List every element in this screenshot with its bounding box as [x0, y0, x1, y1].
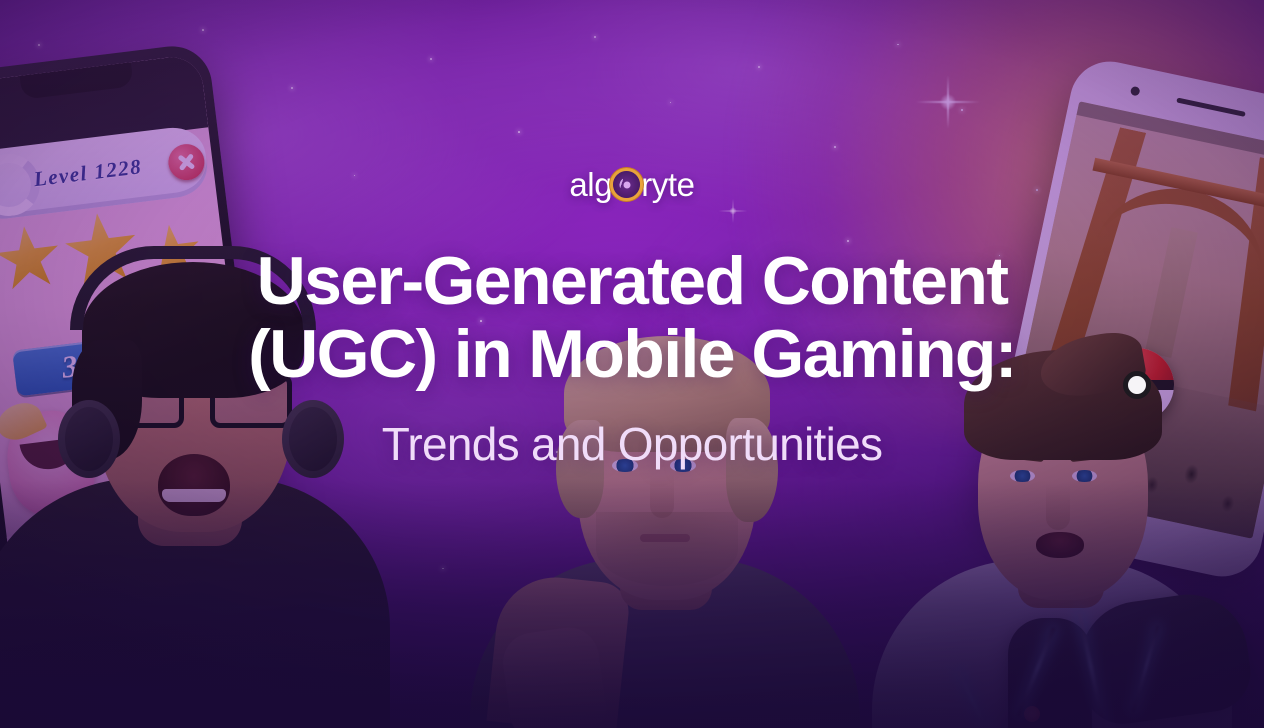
logo-emblem-icon	[613, 171, 640, 198]
hero-content: alg ryte User-Generated Content (UGC) in…	[0, 0, 1264, 728]
title-line-2: (UGC) in Mobile Gaming:	[248, 318, 1016, 391]
brand-name-part-1: alg	[569, 168, 612, 201]
title-line-1: User-Generated Content	[248, 245, 1016, 318]
hero-banner: Level 1228 Score: 398420 Level Complete …	[0, 0, 1264, 728]
brand-name-part-2: ryte	[641, 168, 694, 201]
page-title: User-Generated Content (UGC) in Mobile G…	[248, 245, 1016, 391]
brand-logo[interactable]: alg ryte	[569, 168, 694, 201]
page-subtitle: Trends and Opportunities	[382, 417, 883, 471]
